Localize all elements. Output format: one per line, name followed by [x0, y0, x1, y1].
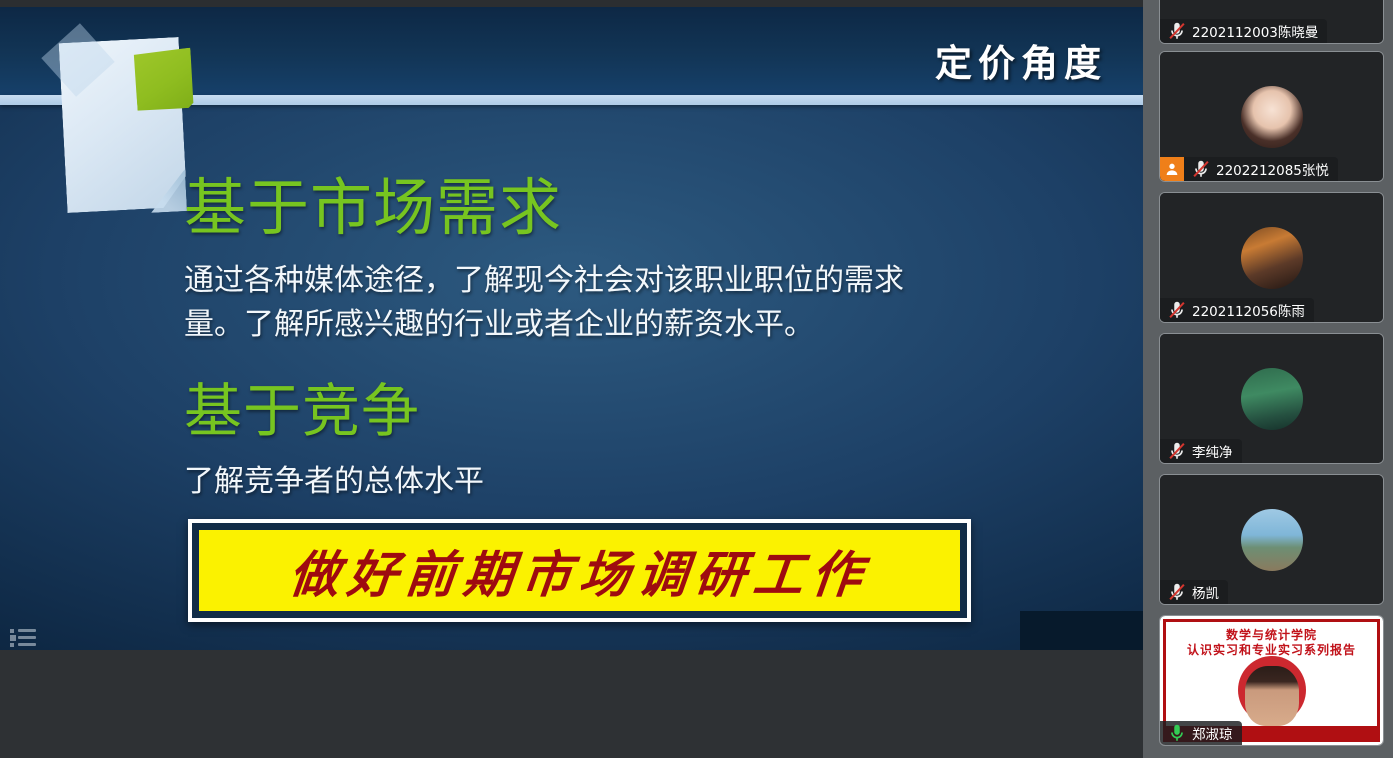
participant-tile-active-speaker[interactable]: 数学与统计学院 认识实习和专业实习系列报告 郑淑琼 [1159, 615, 1384, 746]
conference-screen: 定价角度 基于市场需求 通过各种媒体途径，了解现今社会对该职业职位的需求量。了解… [0, 0, 1393, 758]
mic-muted-icon [1166, 440, 1188, 462]
participant-name: 郑淑琼 [1192, 723, 1233, 743]
mic-muted-icon [1166, 299, 1188, 321]
participant-name: 2202112003陈晓曼 [1192, 21, 1318, 41]
presentation-slide: 定价角度 基于市场需求 通过各种媒体途径，了解现今社会对该职业职位的需求量。了解… [0, 7, 1143, 650]
participant-name: 杨凯 [1192, 582, 1219, 602]
mic-active-icon [1166, 722, 1188, 744]
avatar [1241, 227, 1303, 289]
avatar [1241, 368, 1303, 430]
participant-namebar: 李纯净 [1160, 439, 1242, 463]
section-body-2: 了解竞争者的总体水平 [184, 456, 484, 500]
mic-muted-icon [1190, 158, 1212, 180]
share-top-strip [0, 0, 1143, 7]
shared-screen-region[interactable]: 定价角度 基于市场需求 通过各种媒体途径，了解现今社会对该职业职位的需求量。了解… [0, 0, 1143, 758]
speaker-face [1245, 666, 1299, 726]
share-bottom-area [0, 650, 1143, 758]
avatar [1241, 509, 1303, 571]
mic-muted-icon [1166, 581, 1188, 603]
emphasis-banner-fill: 做好前期市场调研工作 [199, 530, 960, 611]
list-icon[interactable] [10, 626, 36, 650]
participant-name: 2202112056陈雨 [1192, 300, 1305, 320]
participant-name: 2202212085张悦 [1216, 159, 1329, 179]
participant-namebar: 2202112056陈雨 [1160, 298, 1314, 322]
mic-muted-icon [1166, 20, 1188, 42]
participant-tile[interactable]: 2202212085张悦 [1159, 51, 1384, 182]
emphasis-banner: 做好前期市场调研工作 [188, 519, 971, 622]
slide-title: 定价角度 [935, 33, 1107, 87]
participant-filmstrip[interactable]: 2202112003陈晓曼 [1143, 0, 1393, 758]
host-badge-icon [1160, 157, 1184, 181]
participant-namebar: 2202212085张悦 [1160, 157, 1338, 181]
participant-tile[interactable]: 2202112056陈雨 [1159, 192, 1384, 323]
avatar [1241, 86, 1303, 148]
participant-namebar: 郑淑琼 [1160, 721, 1242, 745]
section-heading-2: 基于竞争 [184, 364, 420, 448]
participant-namebar: 2202112003陈晓曼 [1160, 19, 1327, 43]
participant-tile[interactable]: 2202112003陈晓曼 [1159, 0, 1384, 44]
slide-dark-panel [1020, 611, 1143, 650]
participant-name: 李纯净 [1192, 441, 1233, 461]
participant-tile[interactable]: 杨凯 [1159, 474, 1384, 605]
participant-namebar: 杨凯 [1160, 580, 1228, 604]
section-body-1: 通过各种媒体途径，了解现今社会对该职业职位的需求量。了解所感兴趣的行业或者企业的… [184, 259, 944, 346]
sticky-note-icon [132, 48, 195, 113]
section-heading-1: 基于市场需求 [184, 157, 562, 247]
participant-tile[interactable]: 李纯净 [1159, 333, 1384, 464]
emphasis-banner-text: 做好前期市场调研工作 [286, 535, 874, 607]
